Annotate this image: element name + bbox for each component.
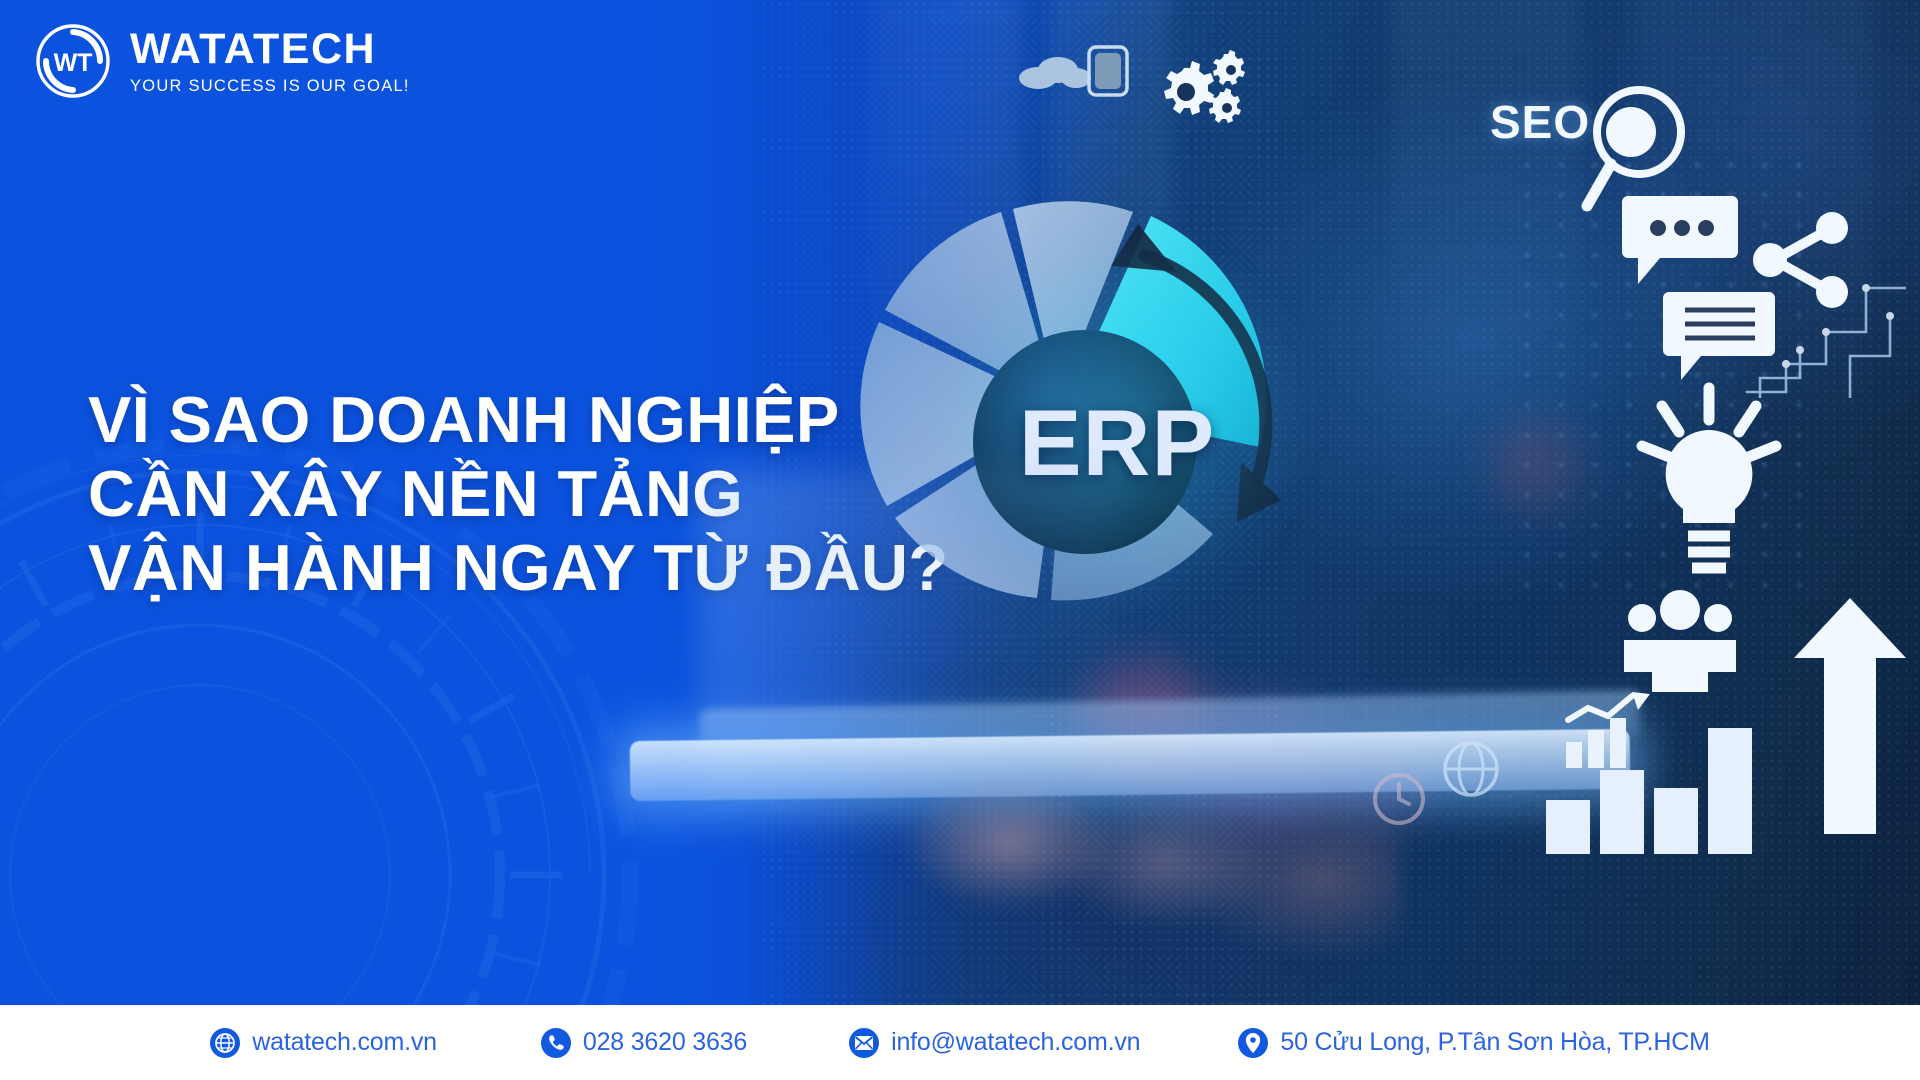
cloud-icon <box>1018 52 1092 92</box>
map-pin-icon <box>1238 1028 1268 1058</box>
tablet-device-icon <box>1086 44 1130 98</box>
footer-contact-bar: watatech.com.vn 028 3620 3636 info@watat… <box>0 1005 1920 1080</box>
small-bar-chart-icon <box>1562 690 1662 770</box>
hero-section: WT WATATECH YOUR SUCCESS IS OUR GOAL! VÌ… <box>0 0 1920 1005</box>
brand-name: WATATECH <box>130 28 410 71</box>
banner-root: WT WATATECH YOUR SUCCESS IS OUR GOAL! VÌ… <box>0 0 1920 1080</box>
gears-icon <box>1148 48 1258 138</box>
logo-monogram: WT <box>54 49 93 77</box>
lens-flare <box>1490 420 1580 510</box>
footer-label-email: info@watatech.com.vn <box>891 1028 1140 1057</box>
logo-wordmark: WATATECH YOUR SUCCESS IS OUR GOAL! <box>130 28 410 95</box>
footer-label-website: watatech.com.vn <box>252 1028 437 1057</box>
footer-label-address: 50 Cửu Long, P.Tân Sơn Hòa, TP.HCM <box>1280 1028 1709 1057</box>
clock-icon <box>1370 770 1428 828</box>
footer-label-phone: 028 3620 3636 <box>583 1028 747 1057</box>
circular-swirl-monogram-icon: WT <box>34 22 112 100</box>
email-icon <box>849 1028 879 1058</box>
globe-icon <box>1440 738 1502 800</box>
footer-item-email[interactable]: info@watatech.com.vn <box>821 1028 1168 1058</box>
footer-item-phone[interactable]: 028 3620 3636 <box>513 1028 775 1058</box>
phone-icon <box>541 1028 571 1058</box>
globe-icon <box>210 1028 240 1058</box>
footer-item-address[interactable]: 50 Cửu Long, P.Tân Sơn Hòa, TP.HCM <box>1210 1028 1737 1058</box>
brand-tagline: YOUR SUCCESS IS OUR GOAL! <box>130 78 410 95</box>
chat-bubble-dots-icon <box>1620 190 1740 290</box>
hand-blur <box>880 775 1400 1005</box>
footer-item-website[interactable]: watatech.com.vn <box>182 1028 465 1058</box>
lightbulb-idea-icon <box>1634 378 1784 578</box>
brand-logo[interactable]: WT WATATECH YOUR SUCCESS IS OUR GOAL! <box>34 22 410 100</box>
